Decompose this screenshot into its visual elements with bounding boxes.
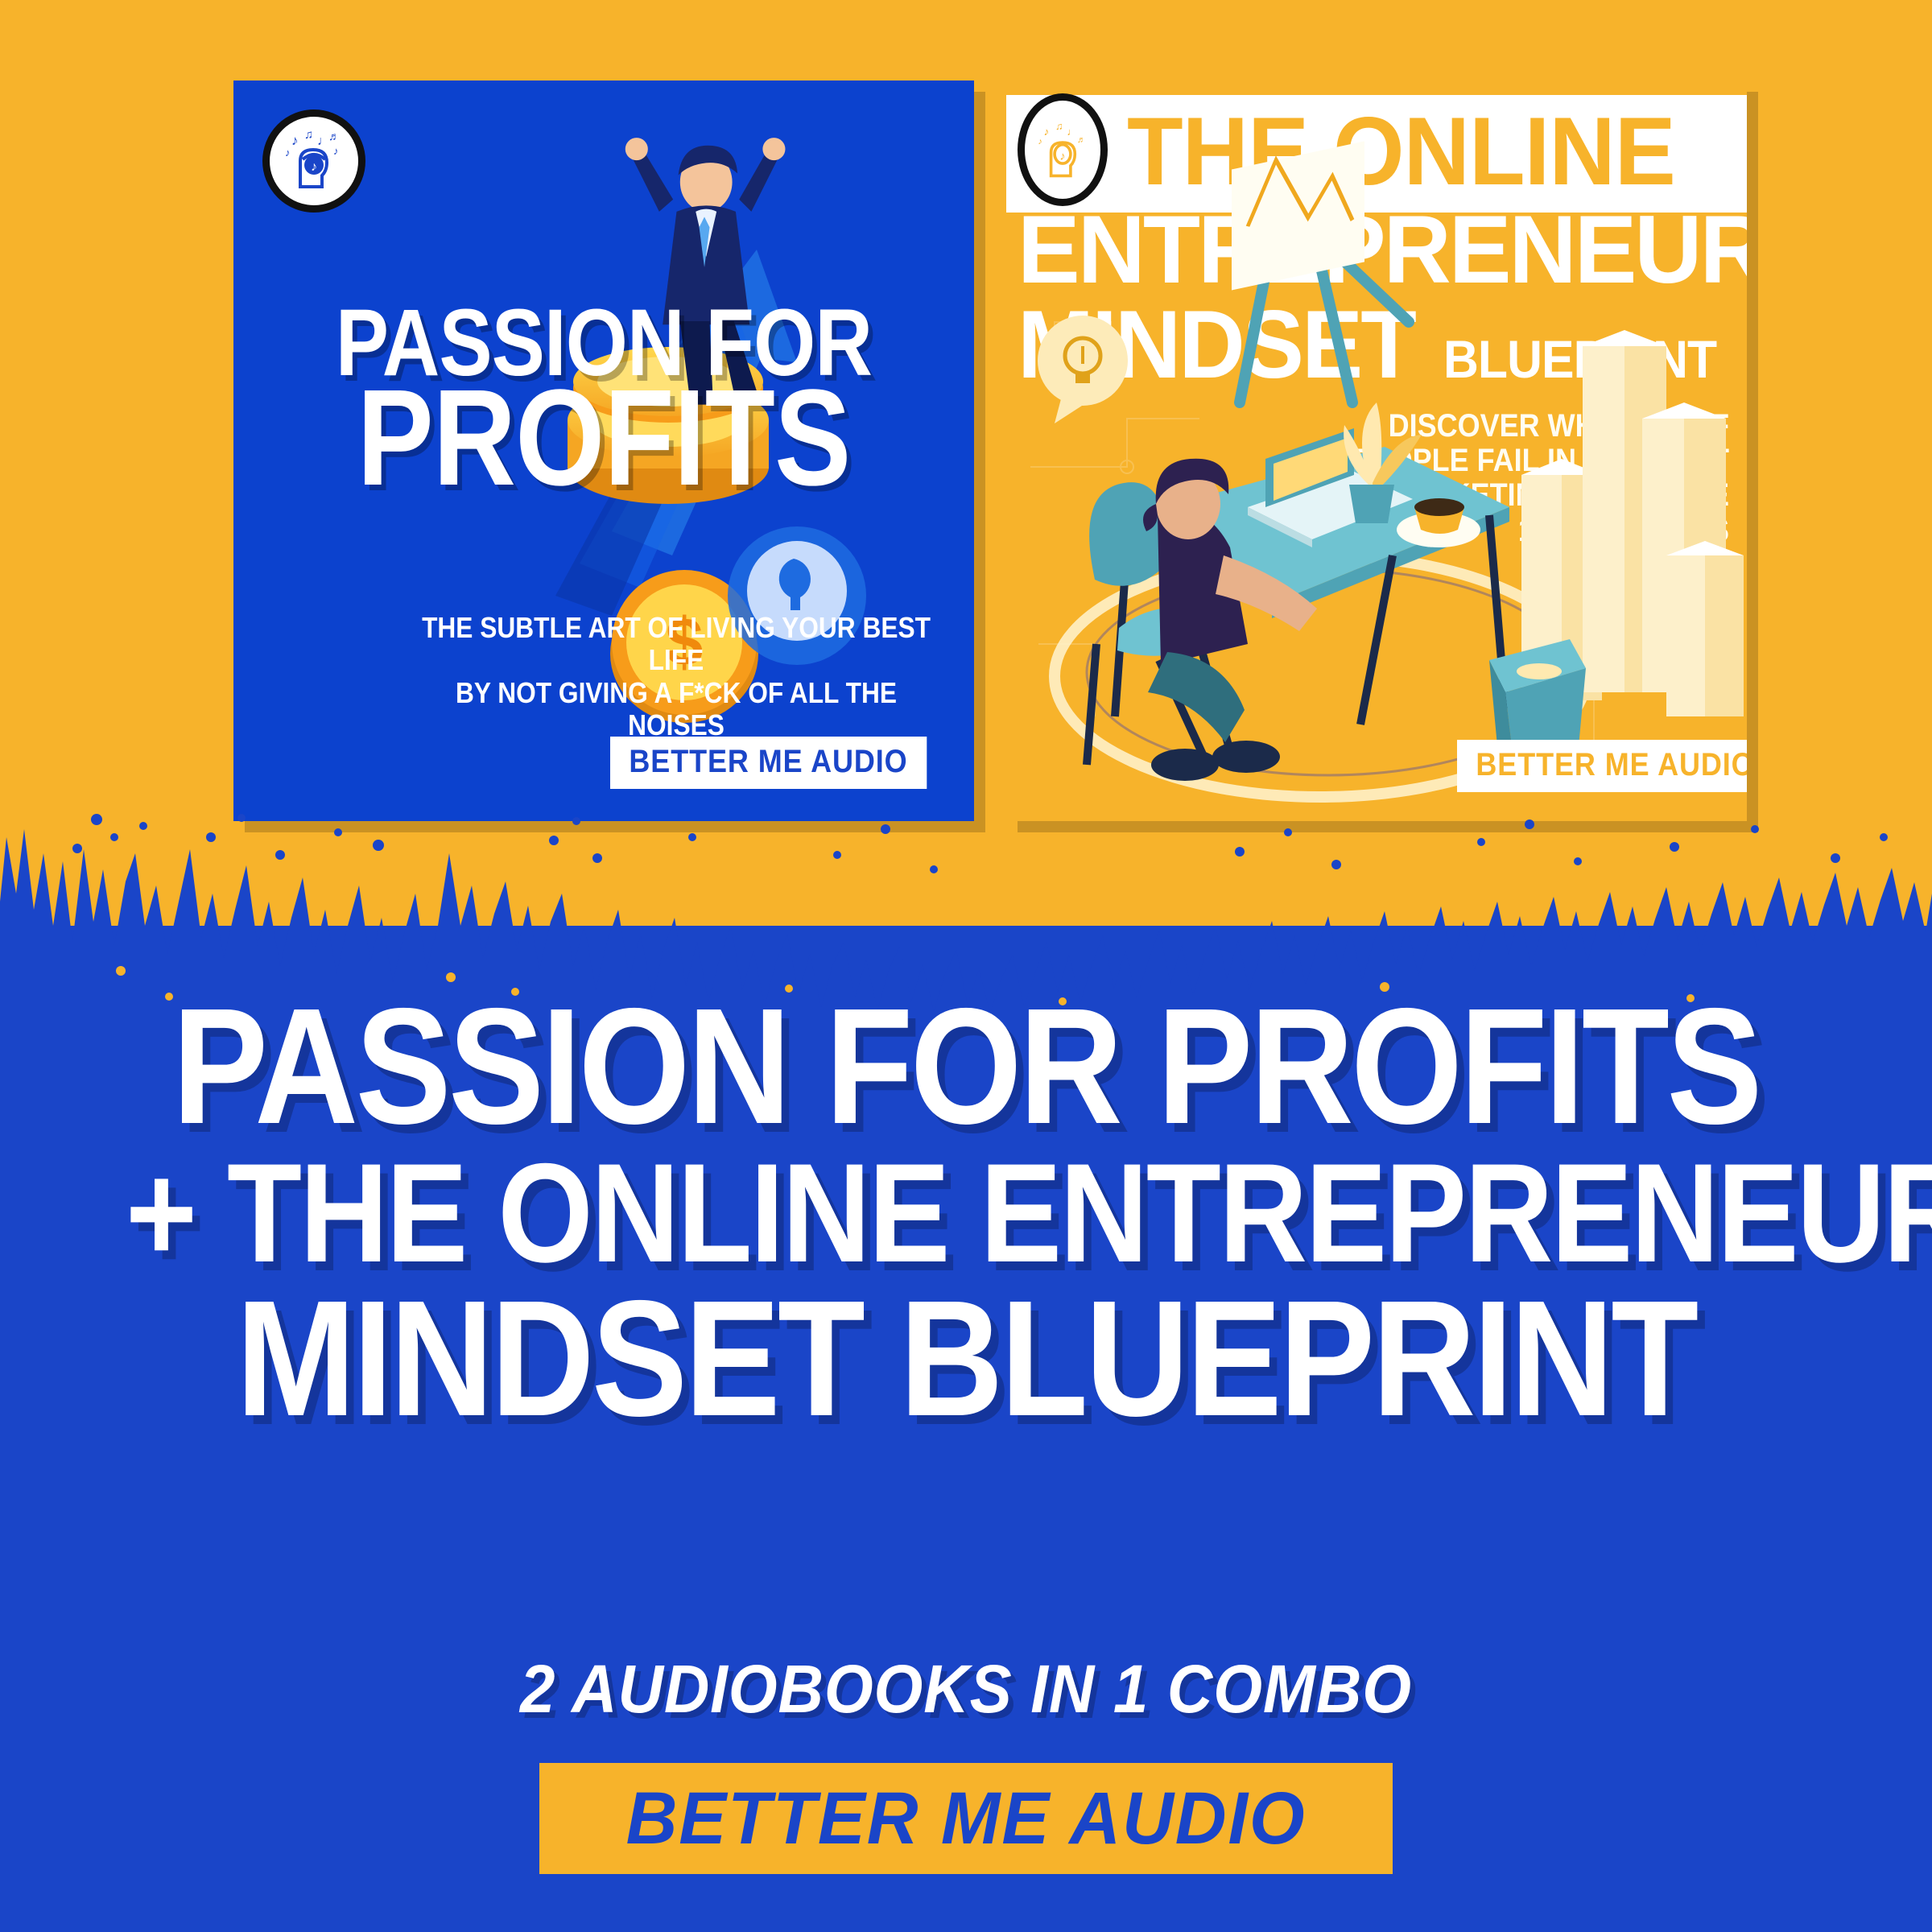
- svg-text:♪: ♪: [291, 133, 299, 148]
- book-two-title-line3-row: MINDSET BLUEPRINT: [1018, 299, 1747, 390]
- book-two-description-line1: DISCOVER WHY 99% OF: [1323, 409, 1729, 444]
- svg-text:♪: ♪: [1044, 126, 1050, 138]
- book-one-subtitle-line1: THE SUBTLE ART OF LIVING YOUR BEST LIFE: [414, 612, 938, 677]
- main-title-line1: PASSION FOR PROFITS: [126, 990, 1806, 1144]
- book-one-title-line2: PROFITS: [293, 378, 915, 499]
- svg-text:♪: ♪: [1038, 137, 1042, 147]
- book-one-subtitle-line2: BY NOT GIVING A F*CK OF ALL THE NOISES: [414, 677, 938, 742]
- svg-text:♬: ♬: [328, 131, 340, 143]
- thumbnail-row: $: [0, 0, 1932, 853]
- brain-lightbulb-music-icon: ♪ ♫ ♩ ♪ ♬ ♪: [1018, 93, 1108, 206]
- book-cover-passion-for-profits[interactable]: $: [233, 80, 974, 821]
- book-two-title-line3: MINDSET: [1018, 299, 1414, 390]
- svg-text:♪: ♪: [285, 147, 291, 159]
- book-two-title-line4: BLUEPRINT: [1443, 333, 1716, 390]
- svg-text:♩: ♩: [1067, 126, 1077, 138]
- combo-tagline: 2 AUDIOBOOKS IN 1 COMBO: [68, 1650, 1864, 1728]
- brain-lightbulb-music-glyph: ♪ ♫ ♩ ♪ ♬ ♪: [1026, 105, 1099, 195]
- svg-text:♪: ♪: [333, 145, 339, 157]
- book-one-publisher-badge: BETTER ME AUDIO: [610, 737, 927, 789]
- main-title-line2: + THE ONLINE ENTREPRENEUR: [126, 1149, 1806, 1280]
- brand-badge: BETTER ME AUDIO: [539, 1763, 1393, 1874]
- svg-text:♪: ♪: [311, 160, 317, 174]
- book-two-title-line1: THE ONLINE: [1127, 103, 1716, 200]
- svg-text:♫: ♫: [304, 129, 313, 142]
- book-one-subtitle: THE SUBTLE ART OF LIVING YOUR BEST LIFE …: [414, 612, 938, 741]
- svg-text:♬: ♬: [1077, 135, 1086, 145]
- book-two-description-line3: MARKETING & WHY THE: [1323, 478, 1729, 513]
- book-cover-online-entrepreneur[interactable]: ♪ ♫ ♩ ♪ ♬ ♪ THE ONLINE ENTREPRENEUR MIND…: [1006, 80, 1747, 821]
- audiobook-cover-canvas: $: [0, 0, 1932, 1932]
- book-two-description: DISCOVER WHY 99% OF PEOPLE FAIL IN INTER…: [1323, 409, 1729, 548]
- book-two-description-line4: 1% SUCCEEDS: [1323, 514, 1729, 548]
- main-title-line3: MINDSET BLUEPRINT: [126, 1282, 1806, 1436]
- brand-label: BETTER ME AUDIO: [626, 1777, 1307, 1861]
- svg-text:♫: ♫: [1055, 121, 1063, 132]
- book-two-title-line2: ENTREPRENEUR: [1018, 201, 1725, 298]
- svg-text:♪: ♪: [1059, 151, 1065, 163]
- brain-headphones-music-glyph: ♪ ♫ ♩ ♬ ♪ ♪ ♪: [274, 121, 354, 201]
- book-two-publisher-badge: BETTER ME AUDIO: [1457, 740, 1747, 792]
- book-two-description-line2: PEOPLE FAIL IN INTERNET: [1323, 444, 1729, 478]
- brain-headphones-music-icon: ♪ ♫ ♩ ♬ ♪ ♪ ♪: [262, 109, 365, 213]
- main-title-block: PASSION FOR PROFITS + THE ONLINE ENTREPR…: [0, 990, 1932, 1436]
